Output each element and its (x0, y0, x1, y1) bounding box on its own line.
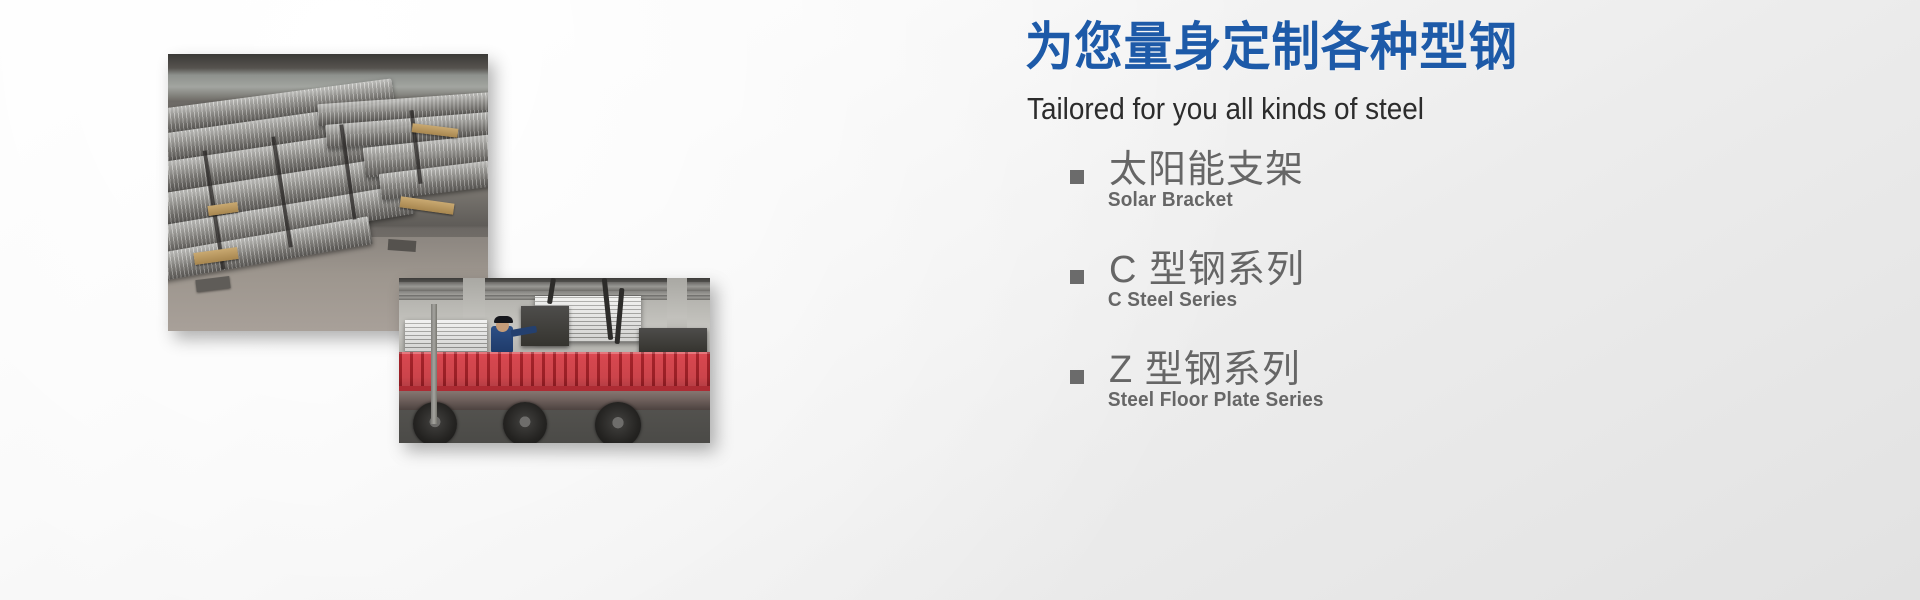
truck-loading-photo (399, 278, 710, 443)
steel-product-banner: 为您量身定制各种型钢 Tailored for you all kinds of… (0, 0, 1920, 600)
product-list-item-c-steel[interactable]: C 型钢系列 C Steel Series (1043, 248, 1803, 348)
headline-english: Tailored for you all kinds of steel (1027, 92, 1424, 126)
truck-wheel (503, 402, 547, 443)
text-panel: 为您量身定制各种型钢 Tailored for you all kinds of… (1025, 0, 1825, 600)
product-name-english: C Steel Series (1087, 288, 1767, 312)
product-name-english: Steel Floor Plate Series (1087, 388, 1767, 412)
truck-bed-rail (399, 386, 710, 391)
dark-steel-stack (639, 328, 707, 352)
product-list: 太阳能支架 Solar Bracket C 型钢系列 C Steel Serie… (1043, 148, 1803, 448)
headline-chinese: 为您量身定制各种型钢 (1025, 22, 1518, 74)
product-list-item-solar-bracket[interactable]: 太阳能支架 Solar Bracket (1043, 148, 1803, 248)
steel-plate-stack (405, 320, 487, 352)
product-name-chinese: 太阳能支架 (1087, 148, 1803, 192)
vertical-post (431, 304, 437, 424)
product-name-chinese: C 型钢系列 (1087, 248, 1803, 292)
square-bullet-icon (1070, 370, 1084, 384)
truck-wheel (595, 402, 641, 443)
truck-bed-side (399, 352, 710, 388)
tube-offcut (388, 239, 417, 252)
square-bullet-icon (1070, 270, 1084, 284)
worker-cap (494, 316, 513, 323)
product-list-item-z-steel[interactable]: Z 型钢系列 Steel Floor Plate Series (1043, 348, 1803, 448)
product-name-english: Solar Bracket (1087, 188, 1767, 212)
square-bullet-icon (1070, 170, 1084, 184)
product-name-chinese: Z 型钢系列 (1087, 348, 1803, 392)
